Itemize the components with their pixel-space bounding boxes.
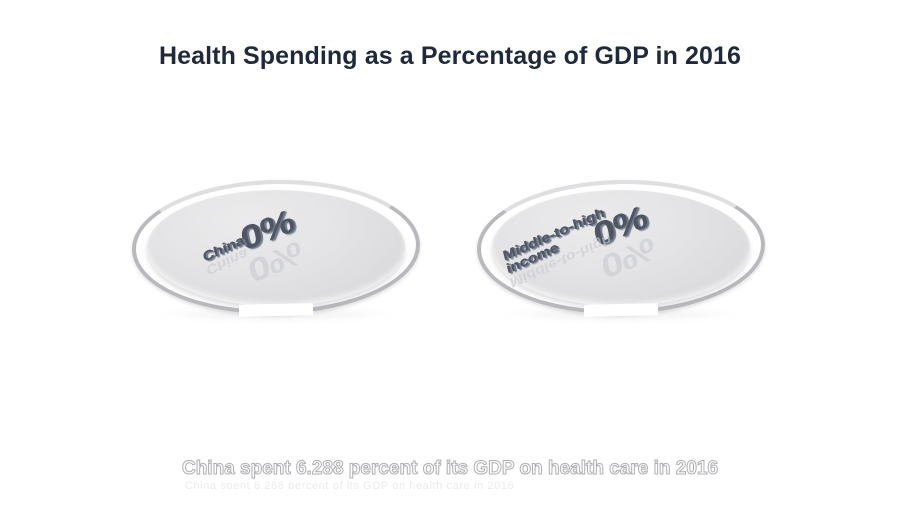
pie-slice-seam-notch <box>239 303 313 316</box>
caption-ghost-artifact: China spent 6.288 percent of its GDP on … <box>185 480 725 489</box>
pie-chart-stage: 0% 0% China China 0% 0% Middle-to-high i… <box>0 0 900 506</box>
pie-chart-middle-to-high-income[interactable]: 0% 0% Middle-to-high income Middle-to-hi… <box>476 178 768 320</box>
chart-caption: China spent 6.288 percent of its GDP on … <box>0 458 900 480</box>
pie-chart-china[interactable]: 0% 0% China China <box>131 178 423 320</box>
pie-slice-seam-notch <box>584 303 658 316</box>
